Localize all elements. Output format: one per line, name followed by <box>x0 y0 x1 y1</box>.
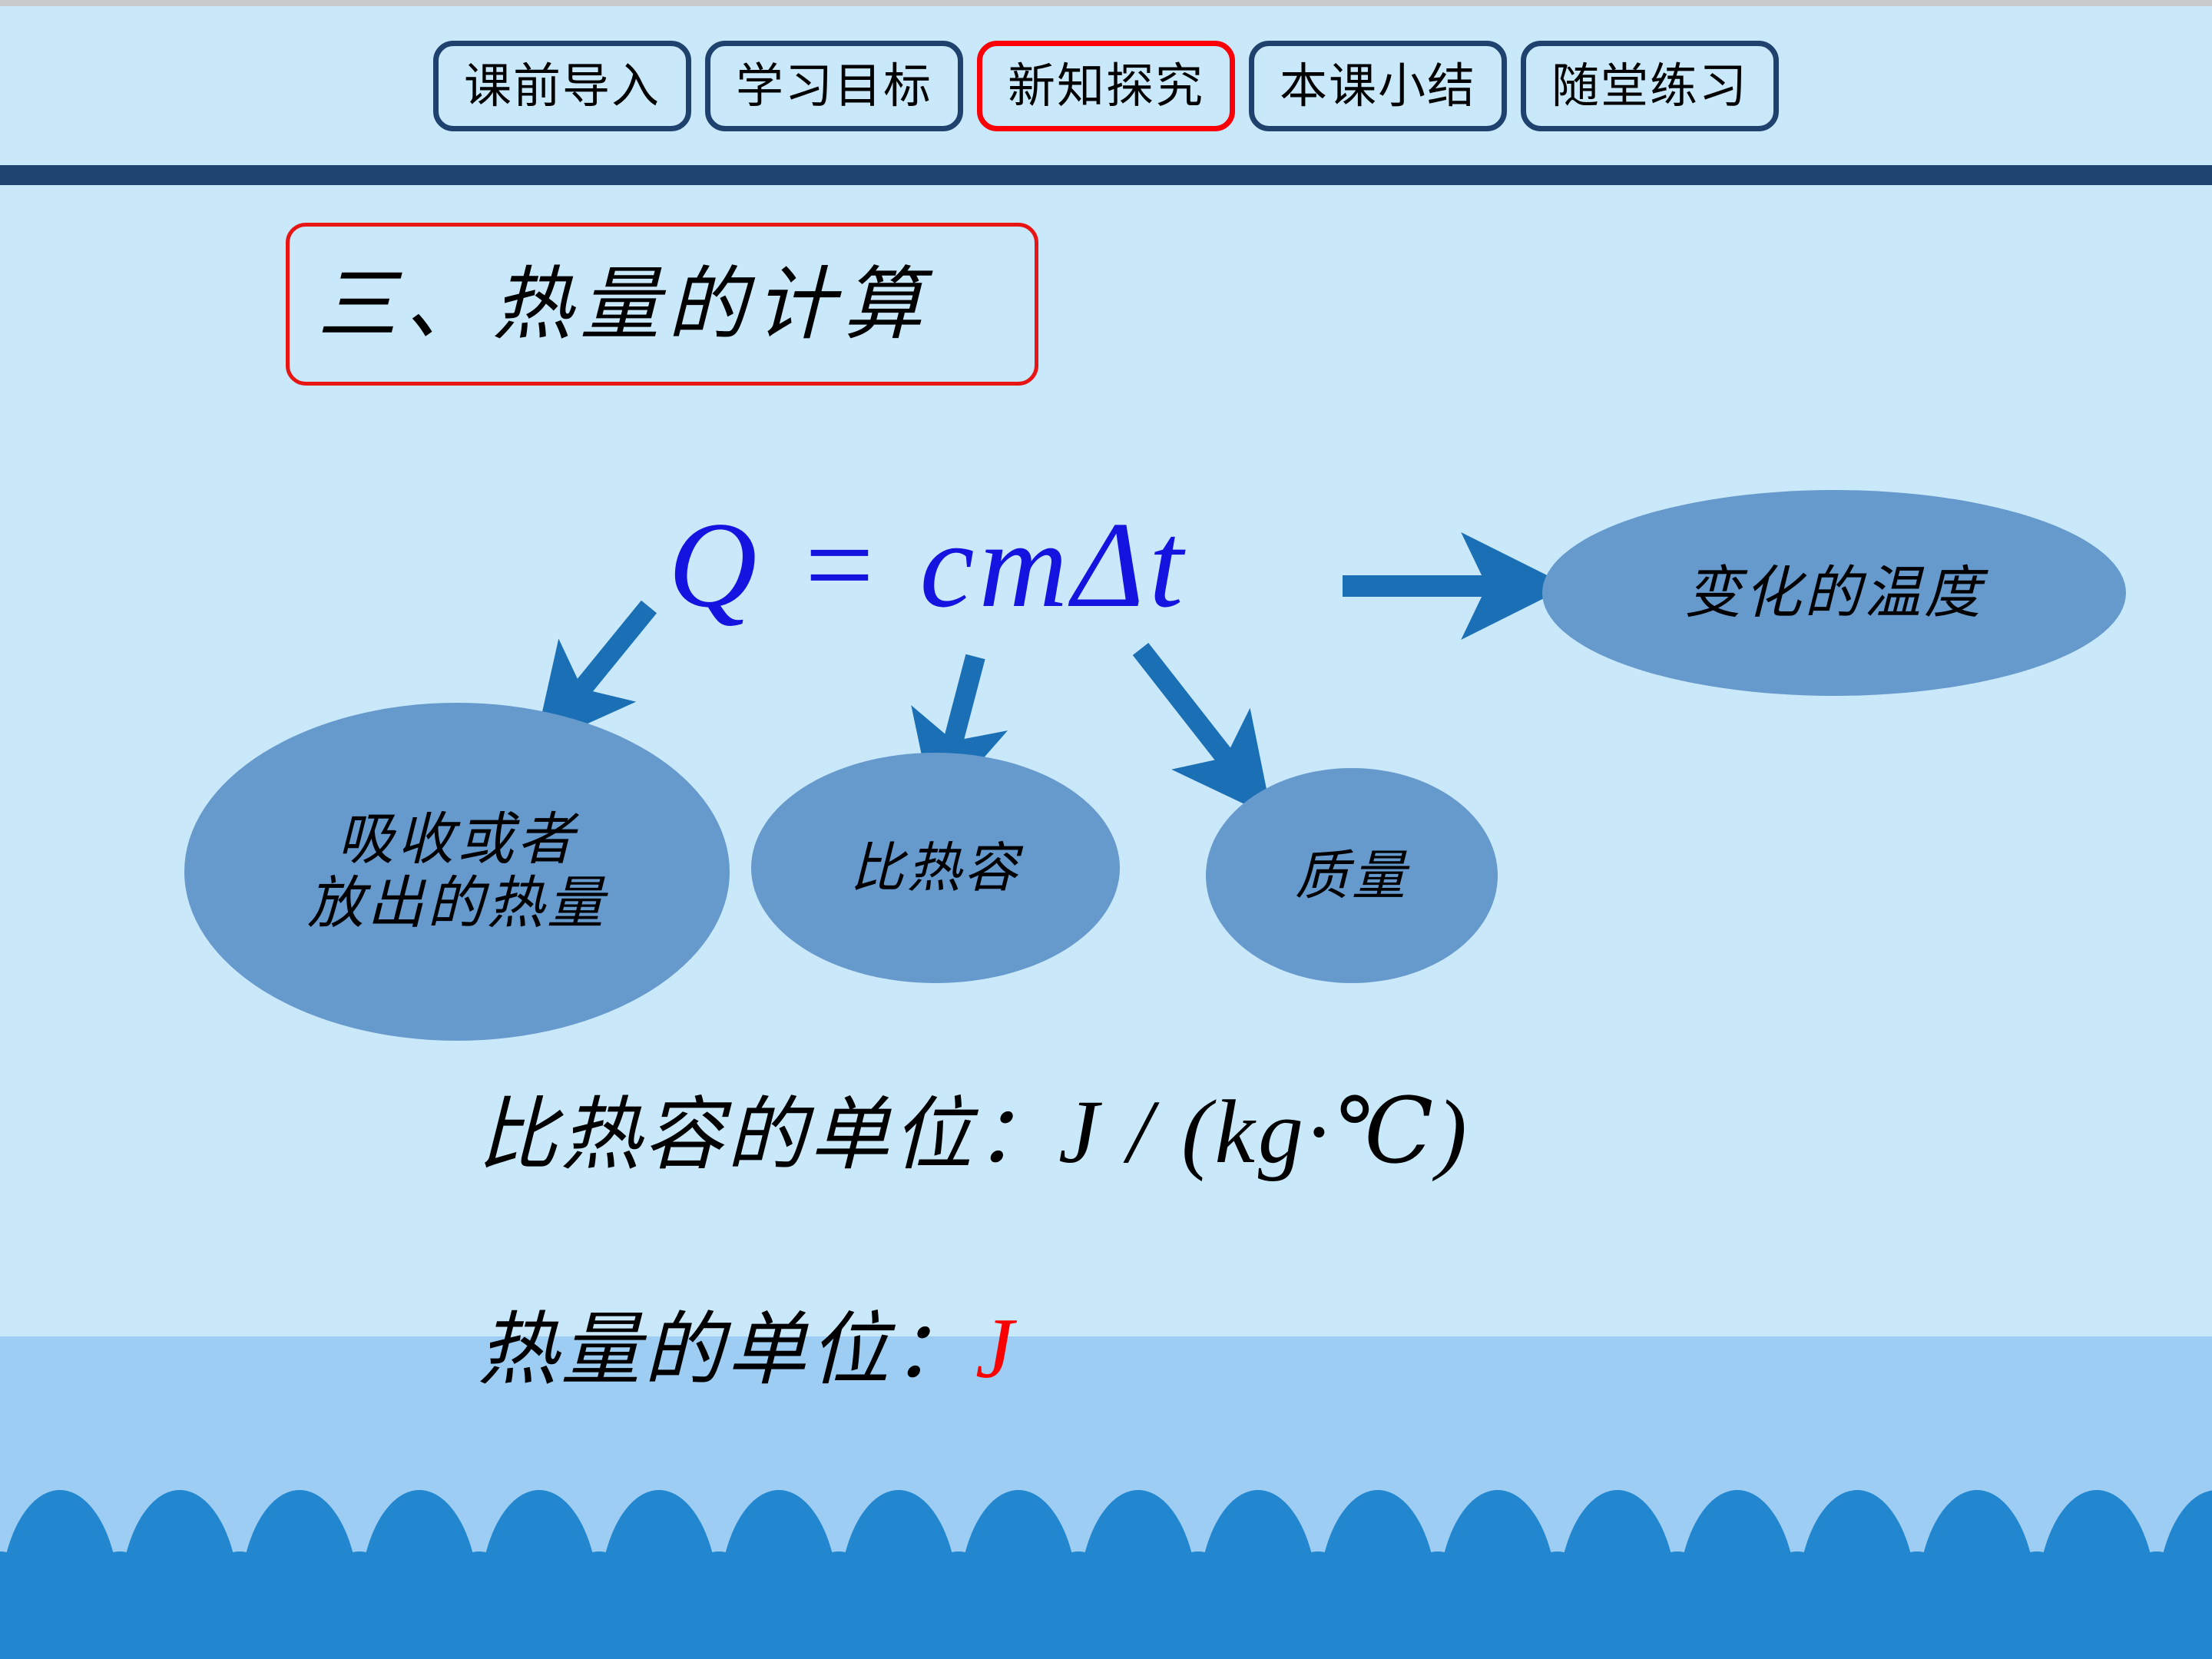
section-title-text: 三、热量的计算 <box>317 264 930 344</box>
arch-shape <box>1618 1551 1737 1659</box>
nav-tab-bkxj[interactable]: 本课小结 <box>1249 41 1507 131</box>
nav-tab-kqdr[interactable]: 课前导入 <box>433 41 691 131</box>
arch-shape <box>1378 1551 1498 1659</box>
arch-shape <box>1857 1551 1977 1659</box>
arrow-m-to-mass <box>1141 649 1243 780</box>
arch-shape <box>899 1551 1018 1659</box>
arch-shape <box>180 1551 300 1659</box>
arch-shape <box>539 1551 659 1659</box>
unit-heat-value: J <box>975 1301 1017 1396</box>
nav-tab-xxmb[interactable]: 学习目标 <box>705 41 963 131</box>
unit-shc-value: J / (kg·℃) <box>1058 1081 1470 1182</box>
slide-header: 课前导入 学习目标 新知探究 本课小结 随堂练习 <box>0 6 2212 165</box>
unit-shc-label: 比热容的单位： <box>478 1088 1058 1181</box>
unit-line-heat: 热量的单位：J <box>478 1306 1017 1392</box>
arch-shape <box>1737 1551 1857 1659</box>
callout-heat-line1: 吸收或者 <box>307 808 607 872</box>
arch-shape <box>1138 1551 1258 1659</box>
heat-formula: Q = cmΔt <box>668 503 1187 626</box>
arch-shape <box>1498 1551 1618 1659</box>
arrow-c-to-shc <box>946 657 975 768</box>
callout-heat-line2: 放出的热量 <box>307 872 607 935</box>
unit-heat-label: 热量的单位： <box>478 1303 975 1396</box>
unit-line-specific-heat: 比热容的单位：J / (kg·℃) <box>478 1087 1470 1177</box>
nav-tab-sdlx[interactable]: 随堂练习 <box>1521 41 1779 131</box>
arch-shape <box>0 1551 60 1659</box>
section-title-box: 三、热量的计算 <box>286 223 1038 386</box>
callout-specific-heat-capacity-label: 比热容 <box>850 838 1021 898</box>
slide-canvas: 课前导入 学习目标 新知探究 本课小结 随堂练习 <box>0 0 2212 1659</box>
nav-tab-bar: 课前导入 学习目标 新知探究 本课小结 随堂练习 <box>0 6 2212 165</box>
arch-shape <box>60 1551 180 1659</box>
arch-shape <box>419 1551 539 1659</box>
header-divider-bar <box>0 165 2212 185</box>
callout-specific-heat-capacity: 比热容 <box>751 753 1120 983</box>
arch-shape <box>659 1551 779 1659</box>
callout-mass-label: 质量 <box>1295 846 1409 906</box>
arch-shape <box>1977 1551 2097 1659</box>
arch-shape <box>2097 1551 2212 1659</box>
arch-decoration-row-bottom <box>0 1551 2198 1659</box>
callout-heat: 吸收或者 放出的热量 <box>184 703 730 1041</box>
arrow-q-to-heat <box>565 607 649 710</box>
top-gray-strip <box>0 0 2212 6</box>
arch-shape <box>300 1551 419 1659</box>
arch-shape <box>779 1551 899 1659</box>
callout-heat-lines: 吸收或者 放出的热量 <box>307 808 607 935</box>
callout-mass: 质量 <box>1206 768 1498 983</box>
callout-temperature-change: 变化的温度 <box>1542 490 2126 696</box>
nav-tab-xztj[interactable]: 新知探究 <box>977 41 1235 131</box>
arch-shape <box>1018 1551 1138 1659</box>
arch-shape <box>1258 1551 1378 1659</box>
callout-temperature-change-label: 变化的温度 <box>1684 561 1984 625</box>
